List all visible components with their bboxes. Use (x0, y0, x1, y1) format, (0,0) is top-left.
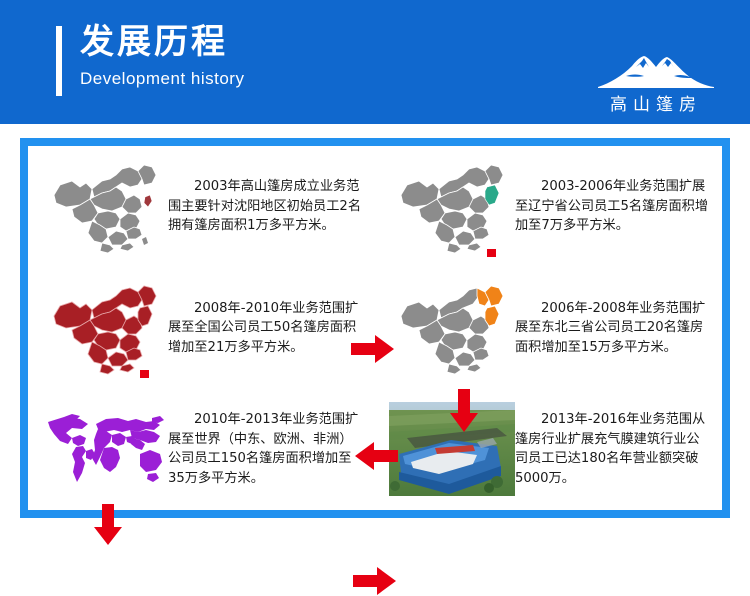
china-map-northeast-icon (389, 276, 515, 380)
timeline-item-2008-2010[interactable]: 2008年-2010年业务范围扩展至全国公司员工50名篷房面积增加至21万多平方… (28, 267, 375, 388)
brand-name: 高山篷房 (610, 90, 702, 115)
arrow-row1-right-icon (351, 334, 395, 364)
arrow-row2-left-icon (354, 441, 398, 471)
timeline-item-2003[interactable]: 2003年高山篷房成立业务范围主要针对沈阳地区初始员工2名拥有篷房面积1万多平方… (28, 146, 375, 267)
china-map-liaoning-icon (389, 155, 515, 259)
title-texts: 发展历程 Development history (80, 22, 244, 92)
mountain-icon (596, 54, 716, 88)
china-map-shenyang-icon (42, 155, 168, 259)
timeline-item-text: 2013年-2016年业务范围从篷房行业扩展充气膜建筑行业公司员工已达180名年… (515, 410, 716, 488)
title-block: 发展历程 Development history (56, 22, 244, 96)
title-accent-bar (56, 26, 62, 96)
timeline-frame-inner: 2003年高山篷房成立业务范围主要针对沈阳地区初始员工2名拥有篷房面积1万多平方… (28, 146, 722, 510)
timeline-item-text: 2003-2006年业务范围扩展至辽宁省公司员工5名篷房面积增加至7万多平方米。 (515, 177, 716, 236)
timeline-item-text: 2008年-2010年业务范围扩展至全国公司员工50名篷房面积增加至21万多平方… (168, 299, 369, 358)
timeline-item-text: 2006年-2008年业务范围扩展至东北三省公司员工20名篷房面积增加至15万多… (515, 299, 716, 358)
timeline-item-text: 2003年高山篷房成立业务范围主要针对沈阳地区初始员工2名拥有篷房面积1万多平方… (168, 177, 369, 236)
brand-logo: 高山篷房 (586, 54, 726, 116)
page-title: 发展历程 (80, 22, 244, 62)
timeline-item-2006-2008[interactable]: 2006年-2008年业务范围扩展至东北三省公司员工20名篷房面积增加至15万多… (375, 267, 722, 388)
timeline-frame: 2003年高山篷房成立业务范围主要针对沈阳地区初始员工2名拥有篷房面积1万多平方… (20, 138, 730, 518)
arrow-row3-right-icon (353, 566, 397, 596)
page-subtitle: Development history (80, 66, 244, 92)
timeline-item-text: 2010年-2013年业务范围扩展至世界（中东、欧洲、非洲）公司员工150名篷房… (168, 410, 369, 488)
world-map-icon (42, 397, 168, 501)
arrow-col2-down-icon (449, 389, 479, 433)
timeline-item-2003-2006[interactable]: 2003-2006年业务范围扩展至辽宁省公司员工5名篷房面积增加至7万多平方米。 (375, 146, 722, 267)
timeline-item-2010-2013[interactable]: 2010年-2013年业务范围扩展至世界（中东、欧洲、非洲）公司员工150名篷房… (28, 389, 375, 510)
china-map-national-icon (42, 276, 168, 380)
timeline-item-2013-2016[interactable]: 2013年-2016年业务范围从篷房行业扩展充气膜建筑行业公司员工已达180名年… (375, 389, 722, 510)
page-header: 发展历程 Development history 高山篷房 (0, 0, 750, 124)
arrow-col1-down-icon (93, 504, 123, 546)
